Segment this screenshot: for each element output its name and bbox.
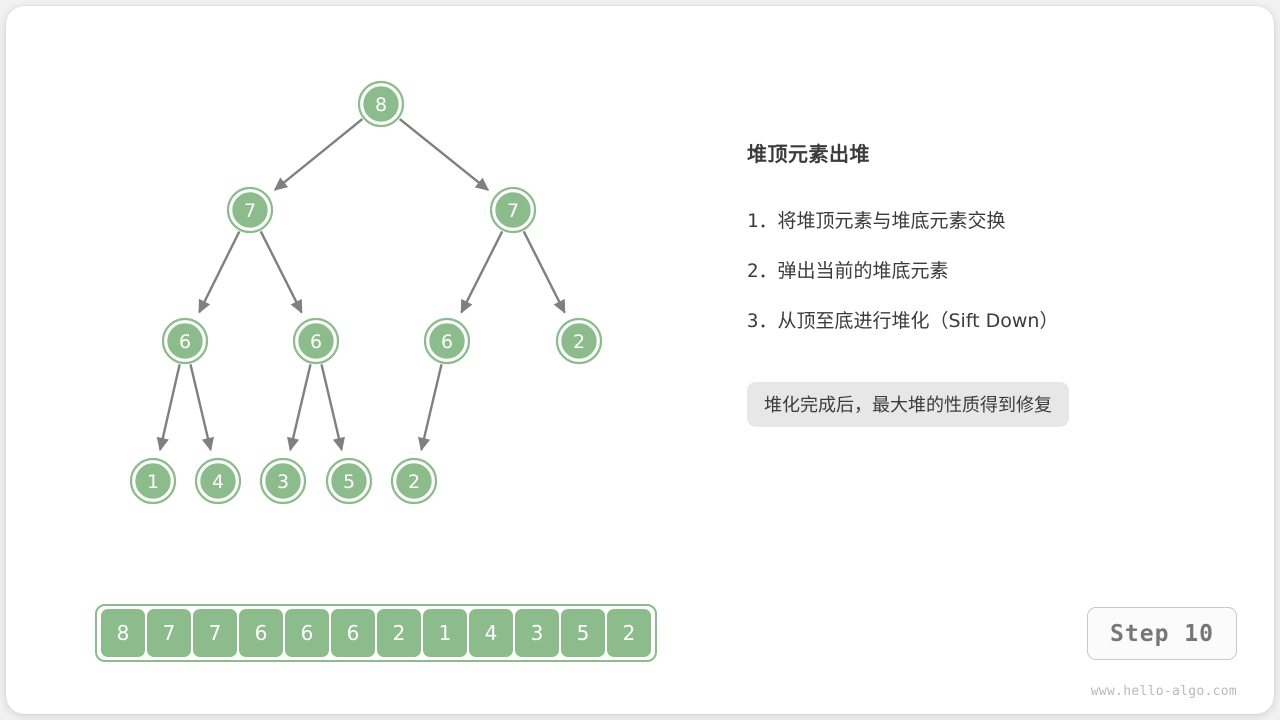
- node-label: 4: [212, 471, 224, 493]
- array-cell: 2: [607, 609, 651, 657]
- node-label: 2: [408, 471, 420, 493]
- node-label: 6: [441, 331, 453, 353]
- step-text: 将堆顶元素与堆底元素交换: [777, 206, 1005, 233]
- screenshot-canvas: 877666214352 堆顶元素出堆 1．将堆顶元素与堆底元素交换2．弹出当前…: [0, 0, 1280, 720]
- tree-edge: [322, 364, 342, 449]
- array-cell: 1: [423, 609, 467, 657]
- tree-edge: [261, 231, 302, 312]
- tree-edge: [191, 364, 211, 449]
- node-label: 8: [375, 94, 387, 116]
- watermark: www.hello-algo.com: [1077, 684, 1237, 699]
- tree-node: 2: [557, 319, 601, 363]
- node-label: 3: [277, 471, 289, 493]
- step-text: 从顶至底进行堆化（Sift Down）: [777, 306, 1058, 333]
- step-number: 3．: [747, 306, 777, 333]
- tree-edge: [461, 231, 502, 312]
- node-label: 5: [343, 471, 355, 493]
- node-label: 2: [573, 331, 585, 353]
- tree-node: 1: [131, 459, 175, 503]
- tree-node: 6: [294, 319, 338, 363]
- step-badge: Step 10: [1087, 607, 1237, 660]
- tree-edge: [275, 119, 362, 190]
- tree-node: 6: [163, 319, 207, 363]
- tree-edge: [421, 364, 441, 449]
- binary-tree-diagram: 877666214352: [6, 6, 726, 566]
- result-note: 堆化完成后，最大堆的性质得到修复: [747, 382, 1069, 427]
- array-cell: 7: [193, 609, 237, 657]
- content-card: 877666214352 堆顶元素出堆 1．将堆顶元素与堆底元素交换2．弹出当前…: [6, 6, 1274, 714]
- array-cell: 8: [101, 609, 145, 657]
- tree-node: 5: [327, 459, 371, 503]
- tree-edge: [290, 364, 310, 449]
- step-number: 2．: [747, 256, 777, 283]
- node-label: 6: [310, 331, 322, 353]
- tree-edges: [160, 119, 564, 450]
- array-cell: 6: [331, 609, 375, 657]
- array-cell: 6: [239, 609, 283, 657]
- step-list: 1．将堆顶元素与堆底元素交换2．弹出当前的堆底元素3．从顶至底进行堆化（Sift…: [747, 206, 1247, 333]
- node-label: 7: [507, 200, 519, 222]
- explanation-panel: 堆顶元素出堆 1．将堆顶元素与堆底元素交换2．弹出当前的堆底元素3．从顶至底进行…: [747, 138, 1247, 427]
- tree-edge: [160, 364, 180, 449]
- step-text: 弹出当前的堆底元素: [777, 256, 948, 283]
- tree-node: 3: [261, 459, 305, 503]
- tree-node: 7: [228, 188, 272, 232]
- array-cell: 3: [515, 609, 559, 657]
- node-label: 7: [244, 200, 256, 222]
- page-title: 堆顶元素出堆: [747, 138, 1247, 167]
- tree-node: 4: [196, 459, 240, 503]
- step-number: 1．: [747, 206, 777, 233]
- tree-edge: [199, 231, 239, 312]
- tree-node: 7: [491, 188, 535, 232]
- heap-array: 877666214352: [95, 604, 657, 662]
- tree-edge: [400, 119, 488, 190]
- tree-nodes: 877666214352: [131, 82, 601, 503]
- array-cell: 6: [285, 609, 329, 657]
- tree-node: 6: [425, 319, 469, 363]
- tree-node: 8: [359, 82, 403, 126]
- array-cell: 4: [469, 609, 513, 657]
- node-label: 1: [147, 471, 159, 493]
- array-cell: 2: [377, 609, 421, 657]
- array-cell: 7: [147, 609, 191, 657]
- step-item: 1．将堆顶元素与堆底元素交换: [747, 206, 1247, 233]
- tree-edge: [524, 231, 565, 312]
- step-item: 3．从顶至底进行堆化（Sift Down）: [747, 306, 1247, 333]
- array-cell: 5: [561, 609, 605, 657]
- step-item: 2．弹出当前的堆底元素: [747, 256, 1247, 283]
- node-label: 6: [179, 331, 191, 353]
- tree-node: 2: [392, 459, 436, 503]
